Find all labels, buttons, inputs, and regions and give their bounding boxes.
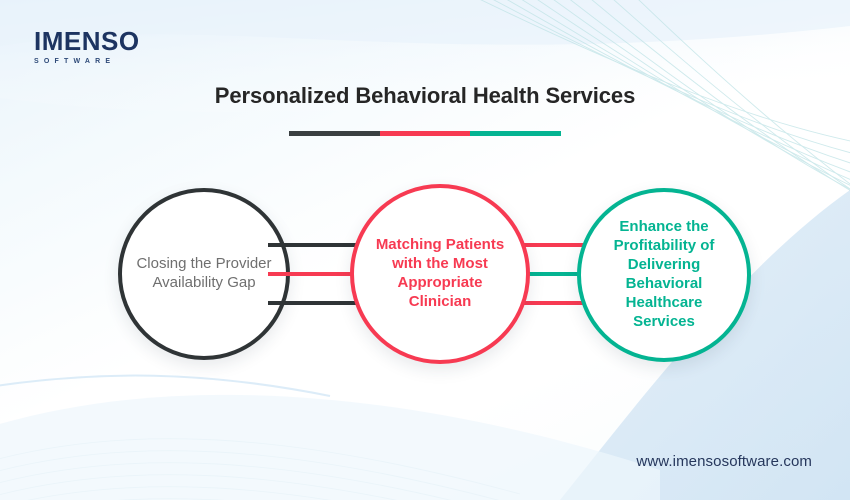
diagram-node-enhance-profitability[interactable]: Enhance the Profitability of Delivering …	[577, 188, 751, 362]
node-label: Matching Patients with the Most Appropri…	[354, 236, 526, 312]
node-label: Closing the Provider Availability Gap	[122, 255, 286, 293]
node-label: Enhance the Profitability of Delivering …	[581, 218, 747, 331]
process-diagram: Closing the Provider Availability Gap Ma…	[0, 0, 850, 500]
footer-website-url[interactable]: www.imensosoftware.com	[636, 453, 812, 470]
diagram-node-matching-patients[interactable]: Matching Patients with the Most Appropri…	[350, 184, 530, 364]
infographic-canvas: IMENSO SOFTWARE Personalized Behavioral …	[0, 0, 850, 500]
diagram-node-closing-provider-gap[interactable]: Closing the Provider Availability Gap	[118, 188, 290, 360]
